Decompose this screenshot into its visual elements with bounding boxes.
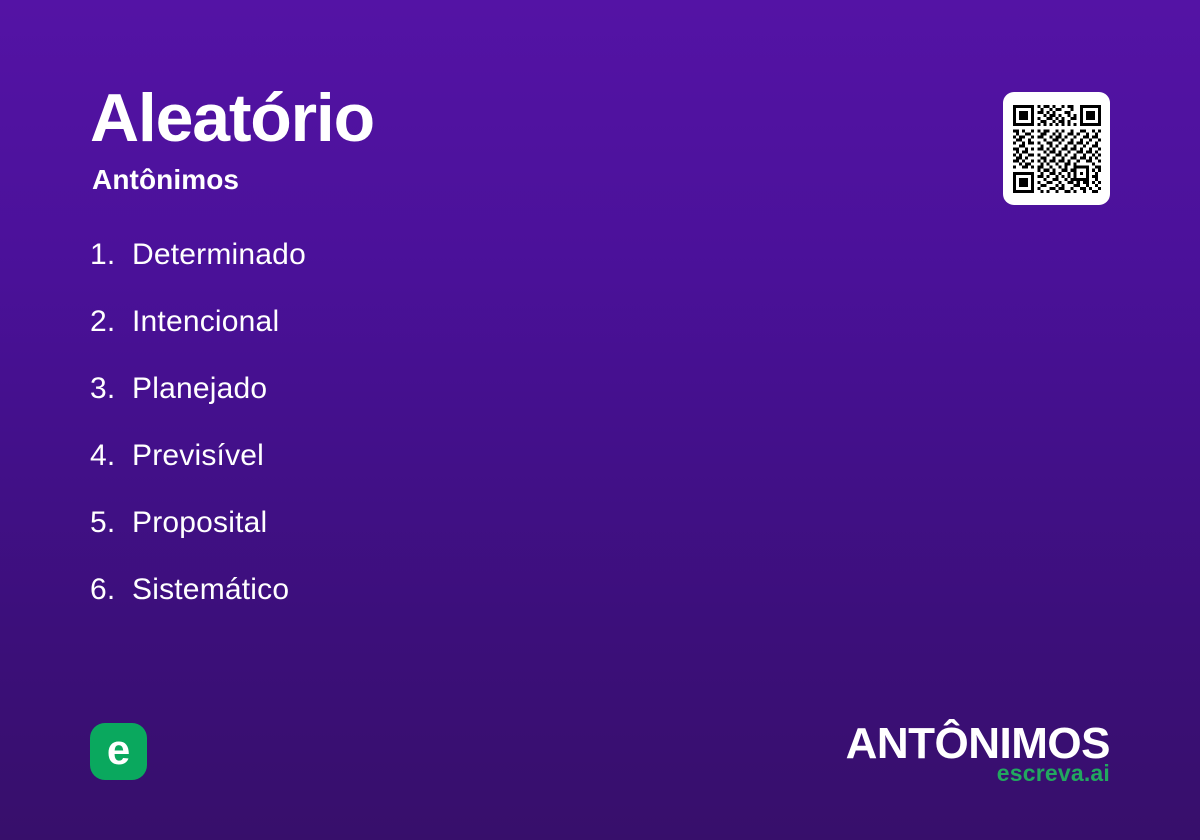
list-item-label: Previsível [132, 441, 264, 471]
page-subtitle: Antônimos [92, 166, 870, 194]
list-item-index: 3. [90, 374, 132, 404]
list-item-index: 4. [90, 441, 132, 471]
list-item-label: Determinado [132, 240, 306, 270]
list-item-label: Sistemático [132, 575, 289, 605]
header: Aleatório Antônimos [90, 84, 870, 194]
list-item: 4. Previsível [90, 439, 910, 473]
list-item: 2. Intencional [90, 305, 910, 339]
list-item-label: Proposital [132, 508, 267, 538]
list-item-index: 6. [90, 575, 132, 605]
list-item-index: 1. [90, 240, 132, 270]
antonyms-list: 1. Determinado 2. Intencional 3. Planeja… [90, 238, 910, 640]
list-item-index: 5. [90, 508, 132, 538]
antonyms-card: Aleatório Antônimos [0, 0, 1200, 840]
list-item: 3. Planejado [90, 372, 910, 406]
list-item: 1. Determinado [90, 238, 910, 272]
footer-logo: ANTÔNIMOS escreva.ai [846, 722, 1110, 785]
list-item-label: Intencional [132, 307, 279, 337]
list-item-label: Planejado [132, 374, 267, 404]
list-item: 6. Sistemático [90, 573, 910, 607]
qr-code-icon [1013, 105, 1101, 193]
list-item-index: 2. [90, 307, 132, 337]
qr-code-card[interactable] [1003, 92, 1110, 205]
brand-badge-letter: e [107, 729, 130, 771]
page-title: Aleatório [90, 84, 870, 152]
brand-badge-icon: e [90, 723, 147, 780]
list-item: 5. Proposital [90, 506, 910, 540]
